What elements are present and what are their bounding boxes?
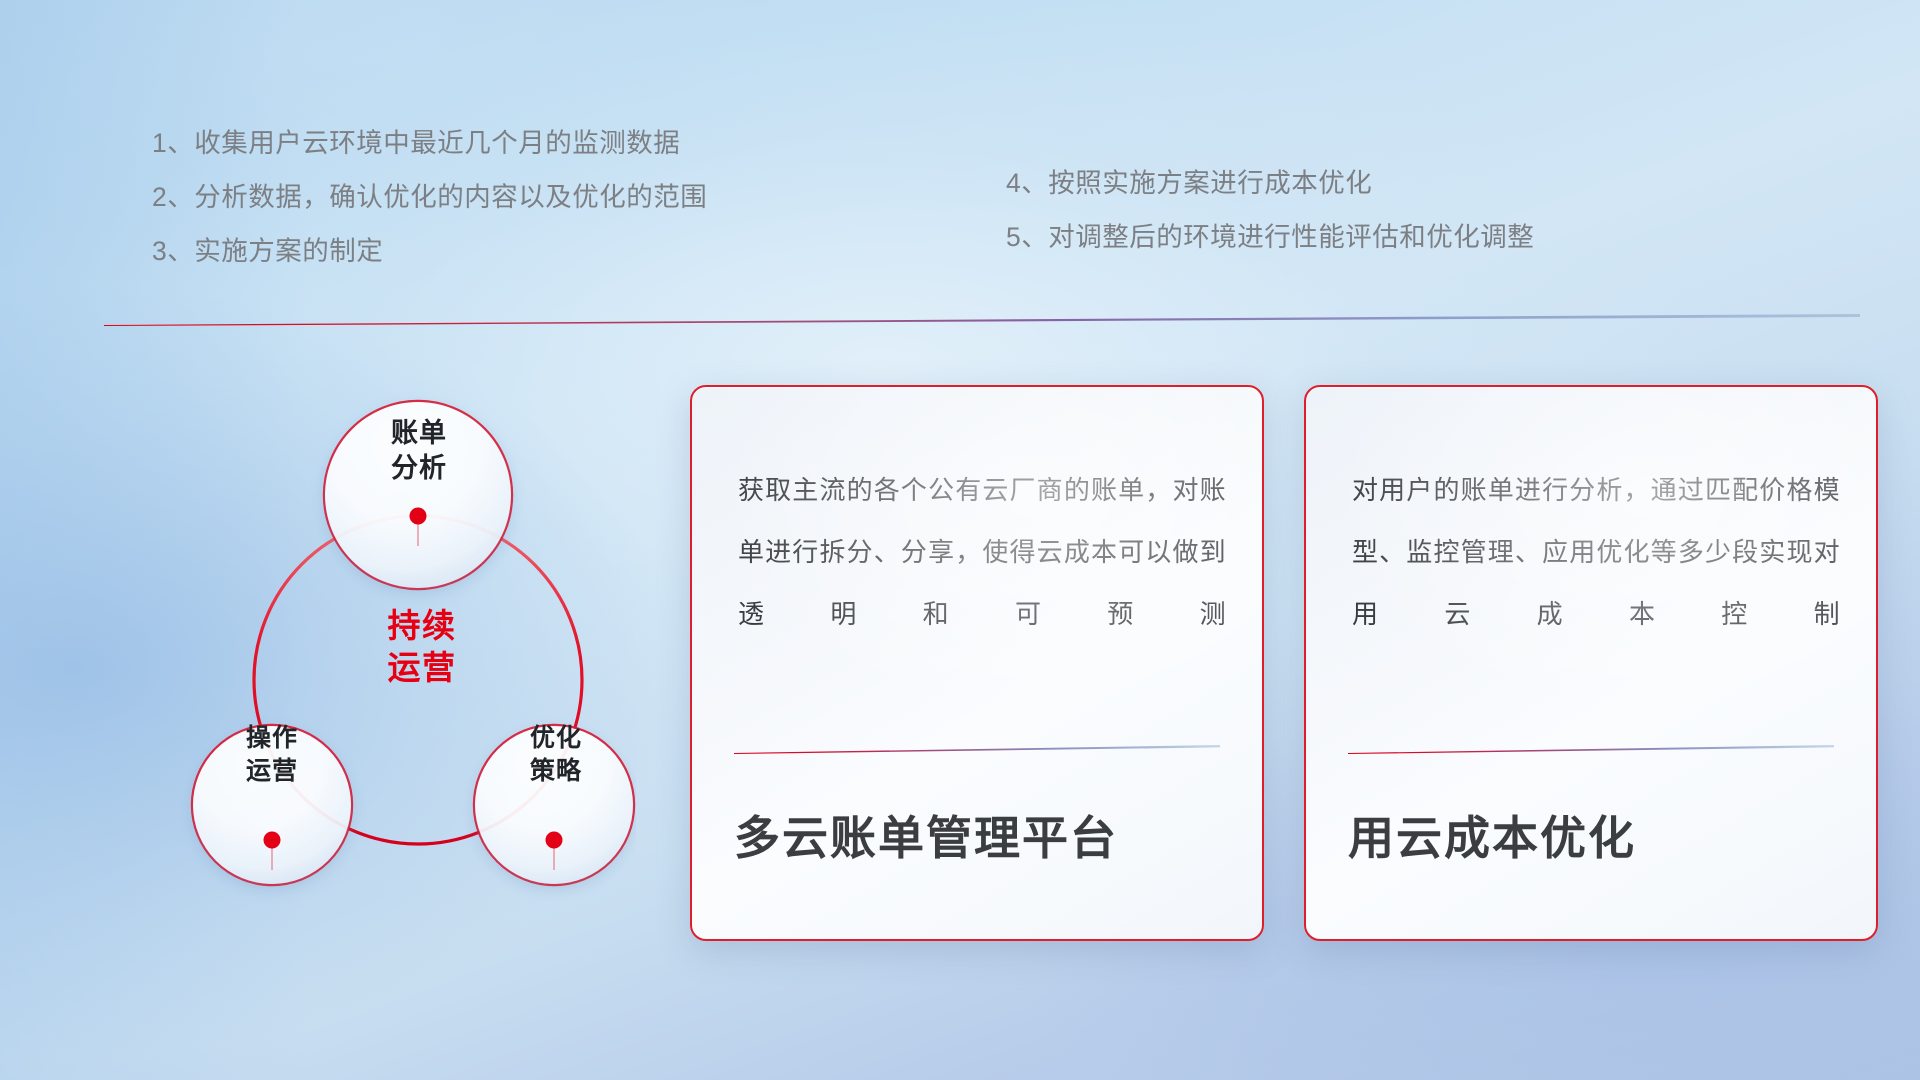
venn-node-dot-right xyxy=(546,832,563,849)
card-title: 用云成本优化 xyxy=(1348,802,1846,868)
card-multi-cloud-billing[interactable]: 获取主流的各个公有云厂商的账单，对账单进行拆分、分享，使得云成本可以做到透明和可… xyxy=(690,385,1264,941)
venn-node-dot-left xyxy=(264,832,281,849)
card-body-text: 获取主流的各个公有云厂商的账单，对账单进行拆分、分享，使得云成本可以做到透明和可… xyxy=(738,459,1226,645)
card-cloud-cost-optimization[interactable]: 对用户的账单进行分析，通过匹配价格模型、监控管理、应用优化等多少段实现对用云成本… xyxy=(1304,385,1878,941)
card-body-text: 对用户的账单进行分析，通过匹配价格模型、监控管理、应用优化等多少段实现对用云成本… xyxy=(1352,459,1840,645)
step-item: 2、分析数据，确认优化的内容以及优化的范围 xyxy=(152,170,707,224)
steps-left-column: 1、收集用户云环境中最近几个月的监测数据 2、分析数据，确认优化的内容以及优化的… xyxy=(152,116,707,278)
step-item: 1、收集用户云环境中最近几个月的监测数据 xyxy=(152,116,707,170)
step-item: 3、实施方案的制定 xyxy=(152,224,707,278)
card-divider xyxy=(734,745,1220,754)
venn-bubble-top xyxy=(325,402,511,588)
step-item: 4、按照实施方案进行成本优化 xyxy=(1006,156,1534,210)
step-item: 5、对调整后的环境进行性能评估和优化调整 xyxy=(1006,210,1534,264)
card-title: 多云账单管理平台 xyxy=(734,802,1232,868)
card-divider xyxy=(1348,745,1834,754)
venn-diagram: 账单 分析 操作 运营 优化 策略 持续 运营 xyxy=(96,350,636,940)
process-steps: 1、收集用户云环境中最近几个月的监测数据 2、分析数据，确认优化的内容以及优化的… xyxy=(0,0,1920,300)
venn-node-dot-top xyxy=(410,508,427,525)
section-divider xyxy=(104,314,1860,326)
steps-right-column: 4、按照实施方案进行成本优化 5、对调整后的环境进行性能评估和优化调整 xyxy=(1006,156,1534,264)
